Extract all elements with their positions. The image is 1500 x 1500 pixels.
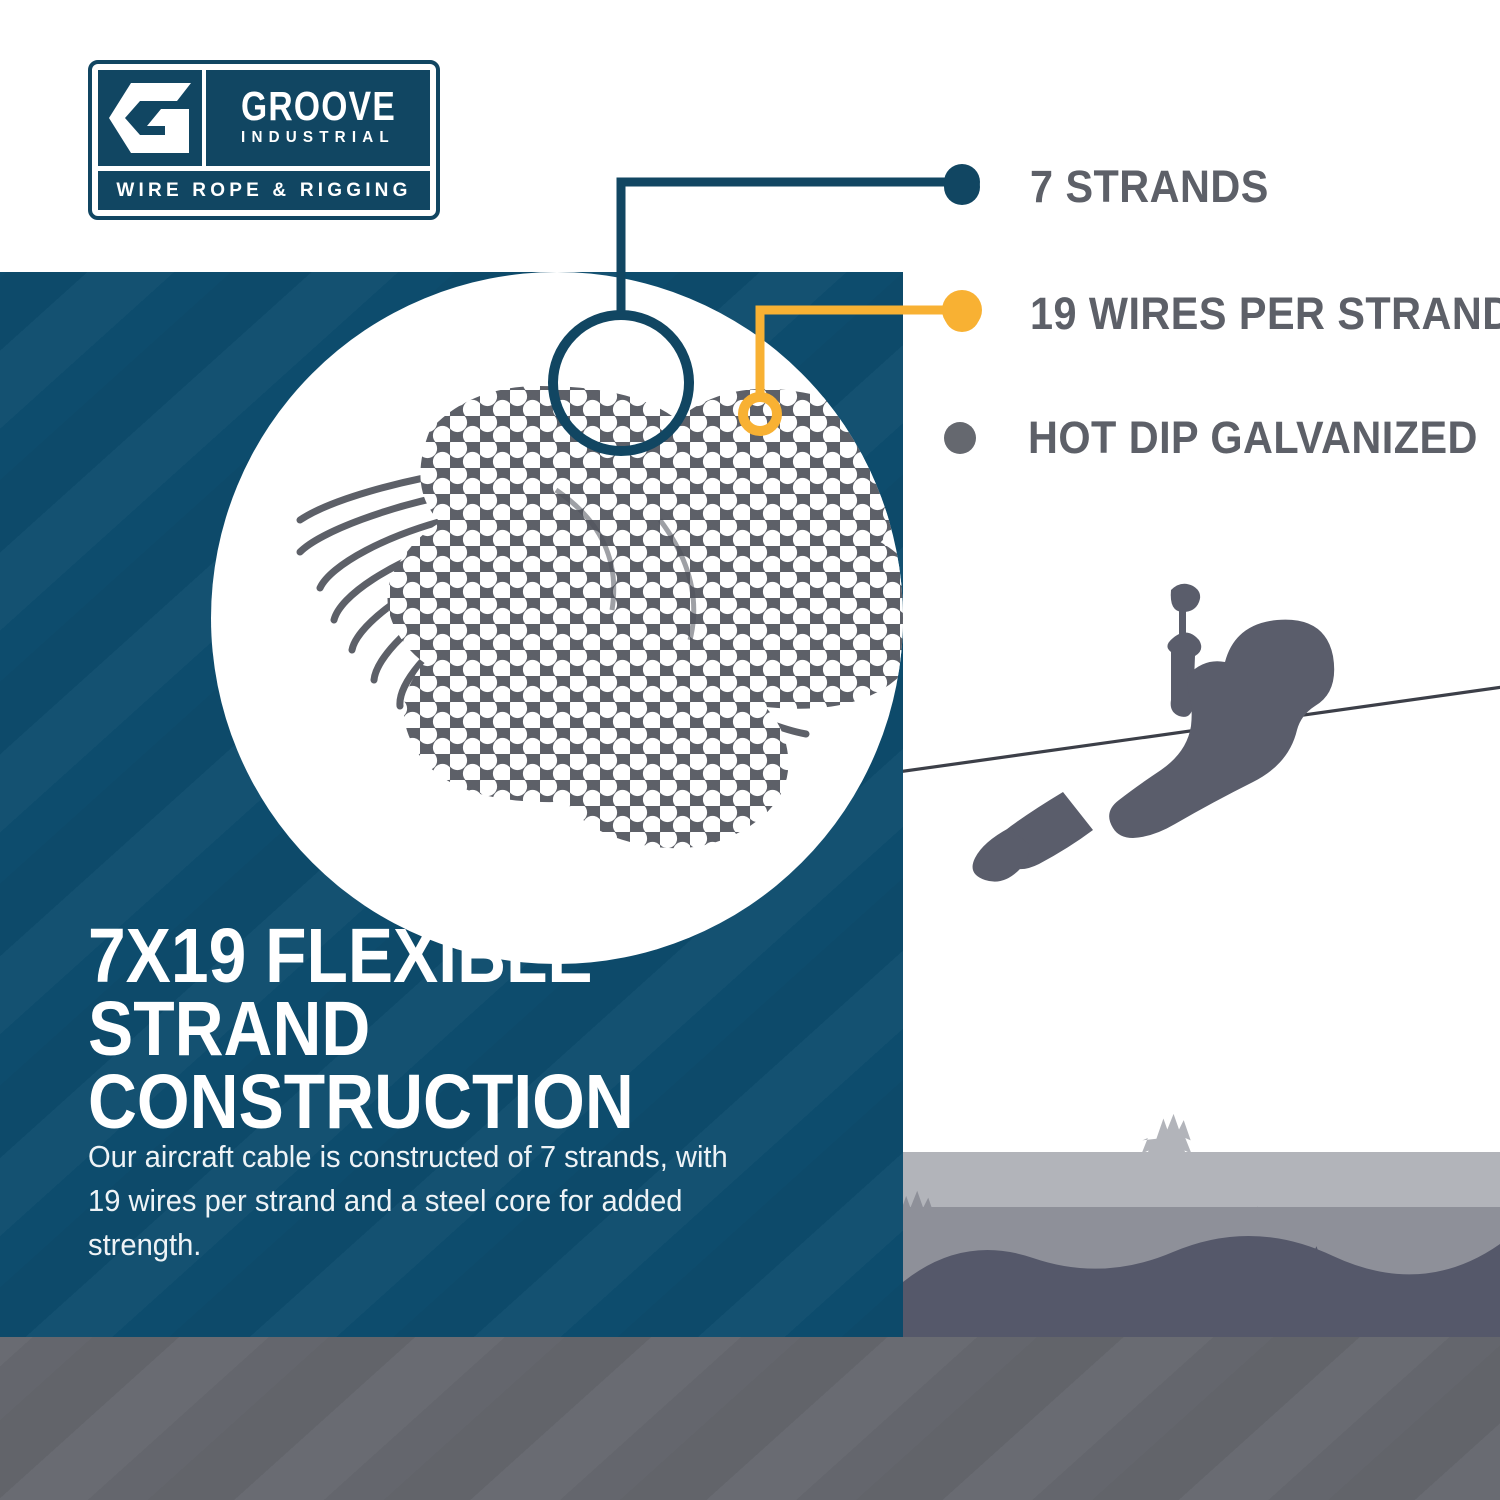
overlay-vectors	[0, 0, 1500, 1500]
brand-subtitle: INDUSTRIAL	[241, 129, 395, 147]
brand-logo[interactable]: GROOVE INDUSTRIAL WIRE ROPE & RIGGING	[88, 60, 440, 220]
callout-dot-icon	[944, 169, 980, 205]
callout-hot-dip-galvanized: HOT DIP GALVANIZED	[944, 412, 1500, 464]
callout-dot-icon	[944, 296, 980, 332]
leader-line-wires	[760, 310, 950, 395]
callout-7-strands: 7 STRANDS	[944, 161, 1290, 213]
brand-name: GROOVE	[241, 89, 396, 124]
title-line-2: STRAND CONSTRUCTION	[88, 993, 783, 1139]
callout-label: 7 STRANDS	[1030, 161, 1269, 213]
infographic-canvas: GROOVE INDUSTRIAL WIRE ROPE & RIGGING 7 …	[0, 0, 1500, 1500]
callout-dot-icon	[944, 422, 976, 454]
page-title: 7X19 FLEXIBLE STRAND CONSTRUCTION	[88, 920, 783, 1139]
bottom-gray-band	[0, 1337, 1500, 1500]
description-text: Our aircraft cable is constructed of 7 s…	[88, 1135, 746, 1267]
callout-label: HOT DIP GALVANIZED	[1028, 412, 1478, 464]
callout-label: 19 WIRES PER STRAND	[1030, 288, 1500, 340]
groove-g-mark-icon	[98, 70, 202, 166]
leader-line-strands	[621, 182, 950, 315]
callout-19-wires-per-strand: 19 WIRES PER STRAND	[944, 288, 1500, 340]
brand-tagline: WIRE ROPE & RIGGING	[116, 180, 411, 202]
